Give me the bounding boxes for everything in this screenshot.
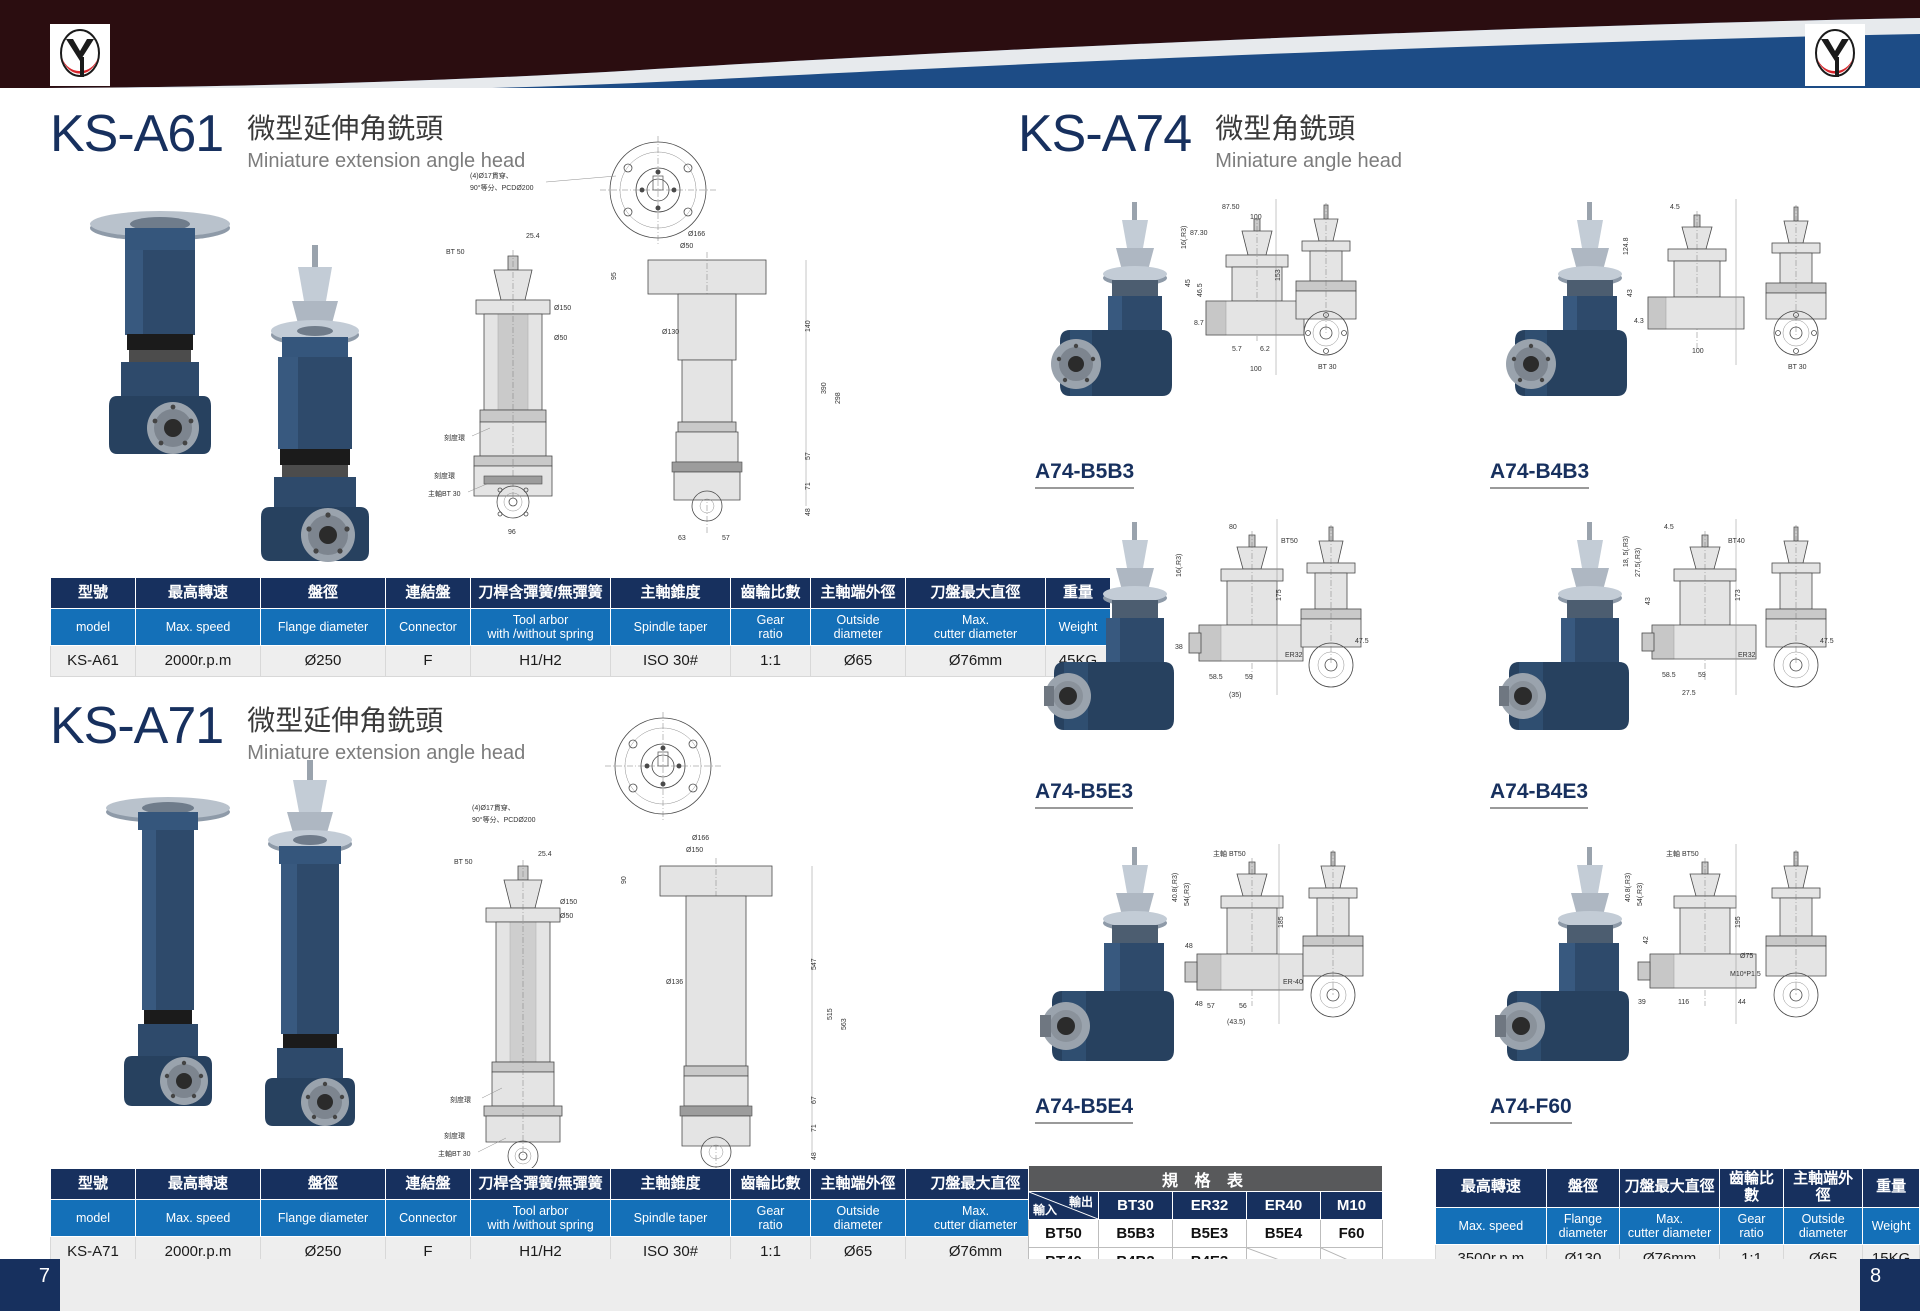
th-en-0: model	[51, 609, 136, 646]
svg-text:39: 39	[1638, 999, 1646, 1006]
matrix-corner-cell: 輸出 輸入	[1029, 1192, 1099, 1220]
spec-table-a71: 型號 最高轉速 盤徑 連結盤 刀桿含彈簧/無彈簧 主軸錐度 齒輪比數 主軸端外徑…	[50, 1168, 1111, 1268]
svg-text:563: 563	[841, 1018, 848, 1030]
th-en-7: Outside diameter	[811, 1200, 906, 1237]
svg-text:4.5: 4.5	[1670, 204, 1680, 211]
svg-text:90°等分、PCDØ200: 90°等分、PCDØ200	[470, 183, 534, 192]
matrix-col-3: M10	[1321, 1192, 1383, 1220]
matrix-title-row: 規 格 表	[1029, 1166, 1383, 1192]
th-cn-4: 刀桿含彈簧/無彈簧	[471, 578, 611, 609]
svg-text:BT40: BT40	[1728, 538, 1745, 545]
svg-text:Ø136: Ø136	[666, 979, 683, 986]
td-2: Ø250	[261, 646, 386, 677]
th-cn-2: 盤徑	[261, 578, 386, 609]
matrix-cell-0-2: B5E4	[1247, 1220, 1321, 1248]
svg-text:4.5: 4.5	[1664, 524, 1674, 531]
th-en-8: Max. cutter diameter	[906, 1200, 1046, 1237]
svg-text:刻度環: 刻度環	[434, 471, 455, 480]
svg-text:100: 100	[1250, 366, 1262, 373]
svg-text:100: 100	[1692, 348, 1704, 355]
td-0: KS-A61	[51, 646, 136, 677]
th-cn-3: 連結盤	[386, 1169, 471, 1200]
svg-text:87.30: 87.30	[1190, 230, 1208, 237]
svg-text:48: 48	[811, 1152, 818, 1160]
th-cn-6: 齒輪比數	[731, 1169, 811, 1200]
svg-text:124.8: 124.8	[1623, 237, 1630, 255]
variant-label-a74-b4e3: A74-B4E3	[1490, 780, 1588, 809]
svg-text:71: 71	[811, 1124, 818, 1132]
svg-text:67: 67	[811, 1096, 818, 1104]
page-number-right: 8	[1860, 1259, 1920, 1311]
table-header-en-row: model Max. speed Flange diameter Connect…	[51, 609, 1111, 646]
th-cn-8: 刀盤最大直徑	[906, 1169, 1046, 1200]
svg-text:43: 43	[1645, 597, 1652, 605]
th-cn-8: 刀盤最大直徑	[906, 578, 1046, 609]
svg-text:(43.5): (43.5)	[1227, 1019, 1245, 1026]
svg-text:BT50: BT50	[1281, 538, 1298, 545]
svg-text:48: 48	[805, 508, 812, 516]
th-en-5: Spindle taper	[611, 609, 731, 646]
table-header-en-row: model Max. speed Flange diameter Connect…	[51, 1200, 1111, 1237]
catalog-page: KS-A61 微型延伸角銑頭 Miniature extension angle…	[0, 0, 1920, 1311]
svg-text:96: 96	[508, 529, 516, 536]
td-7: Ø65	[811, 646, 906, 677]
svg-text:47.5: 47.5	[1820, 638, 1834, 645]
matrix-cell-0-0: B5B3	[1099, 1220, 1173, 1248]
svg-text:25.4: 25.4	[538, 851, 552, 858]
svg-text:153: 153	[1275, 269, 1282, 281]
th-en-4: Tool arbor with /without spring	[471, 609, 611, 646]
svg-text:175: 175	[1276, 589, 1283, 601]
th-en-6: Gear ratio	[731, 609, 811, 646]
svg-text:173: 173	[1735, 589, 1742, 601]
svg-text:54(.R3): 54(.R3)	[1637, 883, 1644, 906]
technical-drawing-a61: (4)Ø17貫穿、 90°等分、PCDØ200 25.4 BT 50 Ø150 …	[440, 130, 920, 555]
svg-text:47.5: 47.5	[1355, 638, 1369, 645]
svg-text:38: 38	[1175, 644, 1183, 651]
td-1: 2000r.p.m	[136, 646, 261, 677]
section-code: KS-A74	[1018, 108, 1191, 160]
svg-text:44: 44	[1738, 999, 1746, 1006]
th-cn-0: 型號	[51, 1169, 136, 1200]
technical-drawing-a74-b4b3: 4.5 124.8 43 4.3 100	[1610, 195, 1890, 440]
svg-text:87.50: 87.50	[1222, 204, 1240, 211]
svg-text:Ø130: Ø130	[662, 329, 679, 336]
variant-label-a74-b5e4: A74-B5E4	[1035, 1095, 1133, 1124]
matrix-cell-0-1: B5E3	[1173, 1220, 1247, 1248]
svg-text:BT 30: BT 30	[1318, 364, 1337, 371]
svg-text:(35): (35)	[1229, 692, 1241, 699]
svg-text:ER-40: ER-40	[1283, 979, 1303, 986]
matrix-col-1: ER32	[1173, 1192, 1247, 1220]
svg-text:18, 5(.R3): 18, 5(.R3)	[1623, 536, 1630, 567]
matrix-row: BT50 B5B3 B5E3 B5E4 F60	[1029, 1220, 1383, 1248]
td-4: H1/H2	[471, 646, 611, 677]
section-name-en: Miniature angle head	[1215, 149, 1402, 173]
svg-text:BT 30: BT 30	[1788, 364, 1807, 371]
matrix-col-2: ER40	[1247, 1192, 1321, 1220]
table-header-cn-row: 型號 最高轉速 盤徑 連結盤 刀桿含彈簧/無彈簧 主軸錐度 齒輪比數 主軸端外徑…	[51, 1169, 1111, 1200]
th-cn-0: 型號	[51, 578, 136, 609]
svg-text:57: 57	[1207, 1003, 1215, 1010]
product-photo-a71-right	[195, 760, 415, 1145]
th-en-5: Spindle taper	[611, 1200, 731, 1237]
th-cn-5: 重量	[1863, 1169, 1920, 1208]
svg-text:6.2: 6.2	[1260, 346, 1270, 353]
svg-text:90°等分、PCDØ200: 90°等分、PCDØ200	[472, 815, 536, 824]
svg-text:42: 42	[1643, 936, 1650, 944]
spec-table: 型號 最高轉速 盤徑 連結盤 刀桿含彈簧/無彈簧 主軸錐度 齒輪比數 主軸端外徑…	[50, 1168, 1111, 1268]
svg-text:Ø50: Ø50	[560, 913, 573, 920]
svg-text:57: 57	[805, 452, 812, 460]
th-en-4: Outside diameter	[1784, 1207, 1863, 1244]
svg-text:40.8(.R3): 40.8(.R3)	[1172, 873, 1179, 902]
th-cn-4: 主軸端外徑	[1784, 1169, 1863, 1208]
th-cn-4: 刀桿含彈簧/無彈簧	[471, 1169, 611, 1200]
svg-text:16(.R3): 16(.R3)	[1176, 554, 1183, 577]
matrix-header-row: 輸出 輸入 BT30 ER32 ER40 M10	[1029, 1192, 1383, 1220]
th-en-8: Max. cutter diameter	[906, 609, 1046, 646]
variant-label-a74-b4b3: A74-B4B3	[1490, 460, 1589, 489]
svg-text:Ø50: Ø50	[554, 335, 567, 342]
technical-drawing-a74-b5b3: 87.50 100 16(.R3) 45 46.5 8.7 5.7 6.2 10…	[1150, 195, 1410, 440]
th-cn-1: 最高轉速	[136, 578, 261, 609]
spec-table-a61: 型號 最高轉速 盤徑 連結盤 刀桿含彈簧/無彈簧 主軸錐度 齒輪比數 主軸端外徑…	[50, 577, 1111, 677]
product-photo-a61-right	[200, 245, 430, 580]
svg-text:58.5: 58.5	[1662, 672, 1676, 679]
svg-text:58.5: 58.5	[1209, 674, 1223, 681]
matrix-corner-input: 輸入	[1033, 1201, 1057, 1218]
svg-text:140: 140	[805, 320, 812, 332]
svg-text:BT 50: BT 50	[446, 249, 465, 256]
spec-table: 型號 最高轉速 盤徑 連結盤 刀桿含彈簧/無彈簧 主軸錐度 齒輪比數 主軸端外徑…	[50, 577, 1111, 677]
svg-text:48: 48	[1185, 943, 1193, 950]
th-cn-3: 連結盤	[386, 578, 471, 609]
th-cn-7: 主軸端外徑	[811, 1169, 906, 1200]
th-en-3: Connector	[386, 609, 471, 646]
page-banner	[0, 0, 1920, 88]
technical-drawing-a74-f60: 主軸 BT50 40.8(.R3) 54(.R3) 42 116 44 Ø75 …	[1610, 840, 1890, 1095]
td-6: 1:1	[731, 646, 811, 677]
technical-drawing-a74-b4e3: 4.5 BT40 18, 5(.R3) 27.5(.R3) 43 48 58.5…	[1610, 515, 1890, 770]
td-3: F	[386, 646, 471, 677]
svg-text:95: 95	[611, 272, 618, 280]
svg-text:Ø166: Ø166	[692, 835, 709, 842]
svg-text:515: 515	[827, 1008, 834, 1020]
variant-label-a74-f60: A74-F60	[1490, 1095, 1572, 1124]
th-en-4: Tool arbor with /without spring	[471, 1200, 611, 1237]
svg-text:刻度環: 刻度環	[450, 1095, 471, 1104]
th-en-2: Flange diameter	[261, 1200, 386, 1237]
svg-text:5.7: 5.7	[1232, 346, 1242, 353]
svg-text:80: 80	[1229, 524, 1237, 531]
technical-drawing-a71: (4)Ø17貫穿、 90°等分、PCDØ200 25.4 BT 50 Ø150 …	[450, 710, 930, 1175]
brand-logo-right	[1805, 24, 1865, 86]
technical-drawing-a74-b5e4: 主軸 BT50 40.8(.R3) 54(.R3) 48 57 56 48 ER…	[1155, 840, 1415, 1095]
section-code: KS-A61	[50, 108, 223, 160]
th-en-3: Gear ratio	[1719, 1207, 1783, 1244]
table-header-en-row: Max. speed Flange diameter Max. cutter d…	[1436, 1207, 1920, 1244]
th-en-6: Gear ratio	[731, 1200, 811, 1237]
technical-drawing-a74-b5e3: 80 BT50 16(.R3) 38 58.5 59 ER32 (35) 175	[1155, 515, 1415, 770]
svg-text:主軸BT 30: 主軸BT 30	[438, 1149, 471, 1158]
svg-text:27.5: 27.5	[1682, 690, 1696, 697]
svg-text:45: 45	[1185, 279, 1192, 287]
svg-text:Ø166: Ø166	[688, 231, 705, 238]
svg-text:56: 56	[1239, 1003, 1247, 1010]
svg-text:(4)Ø17貫穿、: (4)Ø17貫穿、	[470, 171, 513, 180]
matrix-cell-0-3: F60	[1321, 1220, 1383, 1248]
th-cn-3: 齒輪比數	[1719, 1169, 1783, 1208]
svg-text:Ø150: Ø150	[686, 847, 703, 854]
svg-text:116: 116	[1678, 999, 1689, 1006]
th-cn-7: 主軸端外徑	[811, 578, 906, 609]
svg-text:ER32: ER32	[1285, 652, 1303, 659]
th-cn-5: 主軸錐度	[611, 1169, 731, 1200]
svg-text:主軸 BT50: 主軸 BT50	[1213, 849, 1246, 858]
footer-bar	[0, 1259, 1920, 1311]
th-en-3: Connector	[386, 1200, 471, 1237]
th-en-5: Weight	[1863, 1207, 1920, 1244]
svg-text:主軸BT 30: 主軸BT 30	[428, 489, 461, 498]
table-row: KS-A61 2000r.p.m Ø250 F H1/H2 ISO 30# 1:…	[51, 646, 1111, 677]
svg-text:71: 71	[805, 482, 812, 490]
th-en-1: Flange diameter	[1546, 1207, 1620, 1244]
svg-text:Ø150: Ø150	[554, 305, 571, 312]
matrix-row-input-0: BT50	[1029, 1220, 1099, 1248]
svg-text:27.5(.R3): 27.5(.R3)	[1635, 548, 1642, 577]
section-heading-ks-a74: KS-A74 微型角銑頭 Miniature angle head	[1018, 108, 1402, 173]
svg-text:25.4: 25.4	[526, 233, 540, 240]
th-cn-1: 最高轉速	[136, 1169, 261, 1200]
section-name-cn: 微型角銑頭	[1215, 114, 1402, 145]
brand-logo-left	[50, 24, 110, 86]
th-en-0: Max. speed	[1436, 1207, 1547, 1244]
svg-text:主軸 BT50: 主軸 BT50	[1666, 849, 1699, 858]
th-en-7: Outside diameter	[811, 609, 906, 646]
variant-label-a74-b5e3: A74-B5E3	[1035, 780, 1133, 809]
svg-text:390: 390	[821, 382, 828, 394]
svg-text:刻度環: 刻度環	[444, 1131, 465, 1140]
matrix-corner-output: 輸出	[1069, 1193, 1093, 1210]
svg-text:BT 50: BT 50	[454, 859, 473, 866]
th-cn-2: 盤徑	[261, 1169, 386, 1200]
th-cn-0: 最高轉速	[1436, 1169, 1547, 1208]
th-en-1: Max. speed	[136, 1200, 261, 1237]
svg-text:57: 57	[722, 535, 730, 542]
th-en-1: Max. speed	[136, 609, 261, 646]
svg-text:46.5: 46.5	[1197, 283, 1204, 297]
svg-text:59: 59	[1698, 672, 1706, 679]
th-en-2: Max. cutter diameter	[1620, 1207, 1720, 1244]
th-cn-1: 盤徑	[1546, 1169, 1620, 1208]
svg-text:16(.R3): 16(.R3)	[1181, 226, 1188, 249]
svg-text:ER32: ER32	[1738, 652, 1756, 659]
td-8: Ø76mm	[906, 646, 1046, 677]
svg-text:90: 90	[621, 876, 628, 884]
th-cn-6: 齒輪比數	[731, 578, 811, 609]
variant-label-a74-b5b3: A74-B5B3	[1035, 460, 1134, 489]
svg-text:刻度環: 刻度環	[444, 433, 465, 442]
td-5: ISO 30#	[611, 646, 731, 677]
svg-text:M10*P1.5: M10*P1.5	[1730, 971, 1761, 978]
svg-text:59: 59	[1245, 674, 1253, 681]
svg-text:Ø50: Ø50	[680, 243, 693, 250]
th-en-2: Flange diameter	[261, 609, 386, 646]
page-number-left: 7	[0, 1259, 60, 1311]
th-cn-5: 主軸錐度	[611, 578, 731, 609]
section-code: KS-A71	[50, 700, 223, 752]
svg-text:(4)Ø17貫穿、: (4)Ø17貫穿、	[472, 803, 515, 812]
svg-text:Ø150: Ø150	[560, 899, 577, 906]
svg-text:4.3: 4.3	[1634, 318, 1644, 325]
svg-text:63: 63	[678, 535, 686, 542]
svg-text:195: 195	[1735, 916, 1742, 928]
matrix-col-0: BT30	[1099, 1192, 1173, 1220]
svg-text:40.8(.R3): 40.8(.R3)	[1625, 873, 1632, 902]
svg-text:Ø75: Ø75	[1740, 953, 1753, 960]
svg-text:43: 43	[1627, 289, 1634, 297]
svg-text:185: 185	[1278, 916, 1285, 928]
th-en-0: model	[51, 1200, 136, 1237]
svg-text:48: 48	[1195, 1001, 1203, 1008]
svg-text:298: 298	[835, 392, 842, 404]
th-cn-2: 刀盤最大直徑	[1620, 1169, 1720, 1208]
table-header-cn-row: 型號 最高轉速 盤徑 連結盤 刀桿含彈簧/無彈簧 主軸錐度 齒輪比數 主軸端外徑…	[51, 578, 1111, 609]
table-header-cn-row: 最高轉速 盤徑 刀盤最大直徑 齒輪比數 主軸端外徑 重量	[1436, 1169, 1920, 1208]
svg-text:54(.R3): 54(.R3)	[1184, 883, 1191, 906]
matrix-title: 規 格 表	[1029, 1166, 1383, 1192]
svg-text:547: 547	[811, 958, 818, 970]
svg-text:8.7: 8.7	[1194, 320, 1204, 327]
